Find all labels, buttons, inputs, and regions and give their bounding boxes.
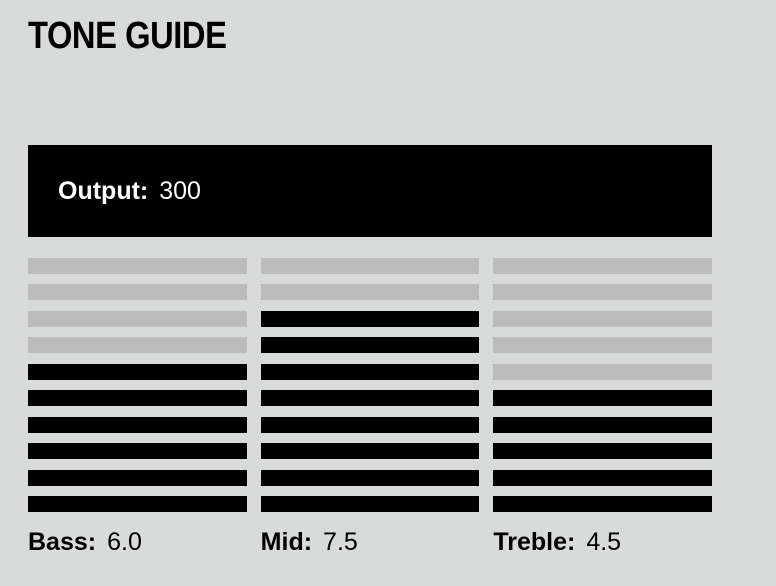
meter-segment[interactable] bbox=[261, 364, 480, 380]
meter-segment[interactable] bbox=[261, 258, 480, 274]
meter-segment[interactable] bbox=[493, 337, 712, 353]
meter-segment[interactable] bbox=[261, 496, 480, 512]
meter-segment[interactable] bbox=[493, 470, 712, 486]
meter-segment[interactable] bbox=[261, 337, 480, 353]
meter-segment[interactable] bbox=[261, 417, 480, 433]
meter-segment[interactable] bbox=[28, 364, 247, 380]
meter-column-treble[interactable] bbox=[493, 258, 712, 512]
meter-segment[interactable] bbox=[493, 496, 712, 512]
meter-segment[interactable] bbox=[493, 284, 712, 300]
meter-segment[interactable] bbox=[28, 311, 247, 327]
meter-segment[interactable] bbox=[28, 496, 247, 512]
meter-label-value: 4.5 bbox=[586, 528, 621, 557]
meter-label-name: Bass: bbox=[28, 528, 96, 557]
meter-label-treble: Treble: 4.5 bbox=[493, 528, 712, 557]
meter-label-value: 7.5 bbox=[323, 528, 358, 557]
meter-segment[interactable] bbox=[261, 390, 480, 406]
meter-segment[interactable] bbox=[28, 337, 247, 353]
meter-segment[interactable] bbox=[493, 443, 712, 459]
page-title: TONE GUIDE bbox=[28, 14, 226, 58]
meter-label-bass: Bass: 6.0 bbox=[28, 528, 247, 557]
meter-label-name: Treble: bbox=[493, 528, 575, 557]
meter-segment[interactable] bbox=[261, 443, 480, 459]
output-value: 300 bbox=[159, 177, 201, 206]
meter-label-value: 6.0 bbox=[107, 528, 142, 557]
meter-label-name: Mid: bbox=[261, 528, 312, 557]
meter-labels: Bass: 6.0 Mid: 7.5 Treble: 4.5 bbox=[28, 528, 712, 557]
meter-label-mid: Mid: 7.5 bbox=[261, 528, 480, 557]
meter-segment[interactable] bbox=[493, 390, 712, 406]
output-readout: Output: 300 bbox=[28, 177, 201, 206]
meter-segment[interactable] bbox=[28, 390, 247, 406]
meter-segment[interactable] bbox=[28, 470, 247, 486]
meter-segment[interactable] bbox=[493, 258, 712, 274]
meter-segment[interactable] bbox=[493, 311, 712, 327]
meter-segment[interactable] bbox=[28, 417, 247, 433]
meter-segment[interactable] bbox=[261, 470, 480, 486]
meter-segment[interactable] bbox=[493, 364, 712, 380]
meter-column-bass[interactable] bbox=[28, 258, 247, 512]
meter-segment[interactable] bbox=[28, 443, 247, 459]
meter-group bbox=[28, 258, 712, 512]
output-bar: Output: 300 bbox=[28, 145, 712, 237]
tone-guide-panel: TONE GUIDE Output: 300 Bass: 6.0 Mid: 7.… bbox=[0, 0, 776, 586]
meter-segment[interactable] bbox=[28, 258, 247, 274]
meter-segment[interactable] bbox=[28, 284, 247, 300]
meter-segment[interactable] bbox=[493, 417, 712, 433]
meter-column-mid[interactable] bbox=[261, 258, 480, 512]
meter-segment[interactable] bbox=[261, 311, 480, 327]
output-label: Output: bbox=[58, 177, 148, 206]
meter-segment[interactable] bbox=[261, 284, 480, 300]
